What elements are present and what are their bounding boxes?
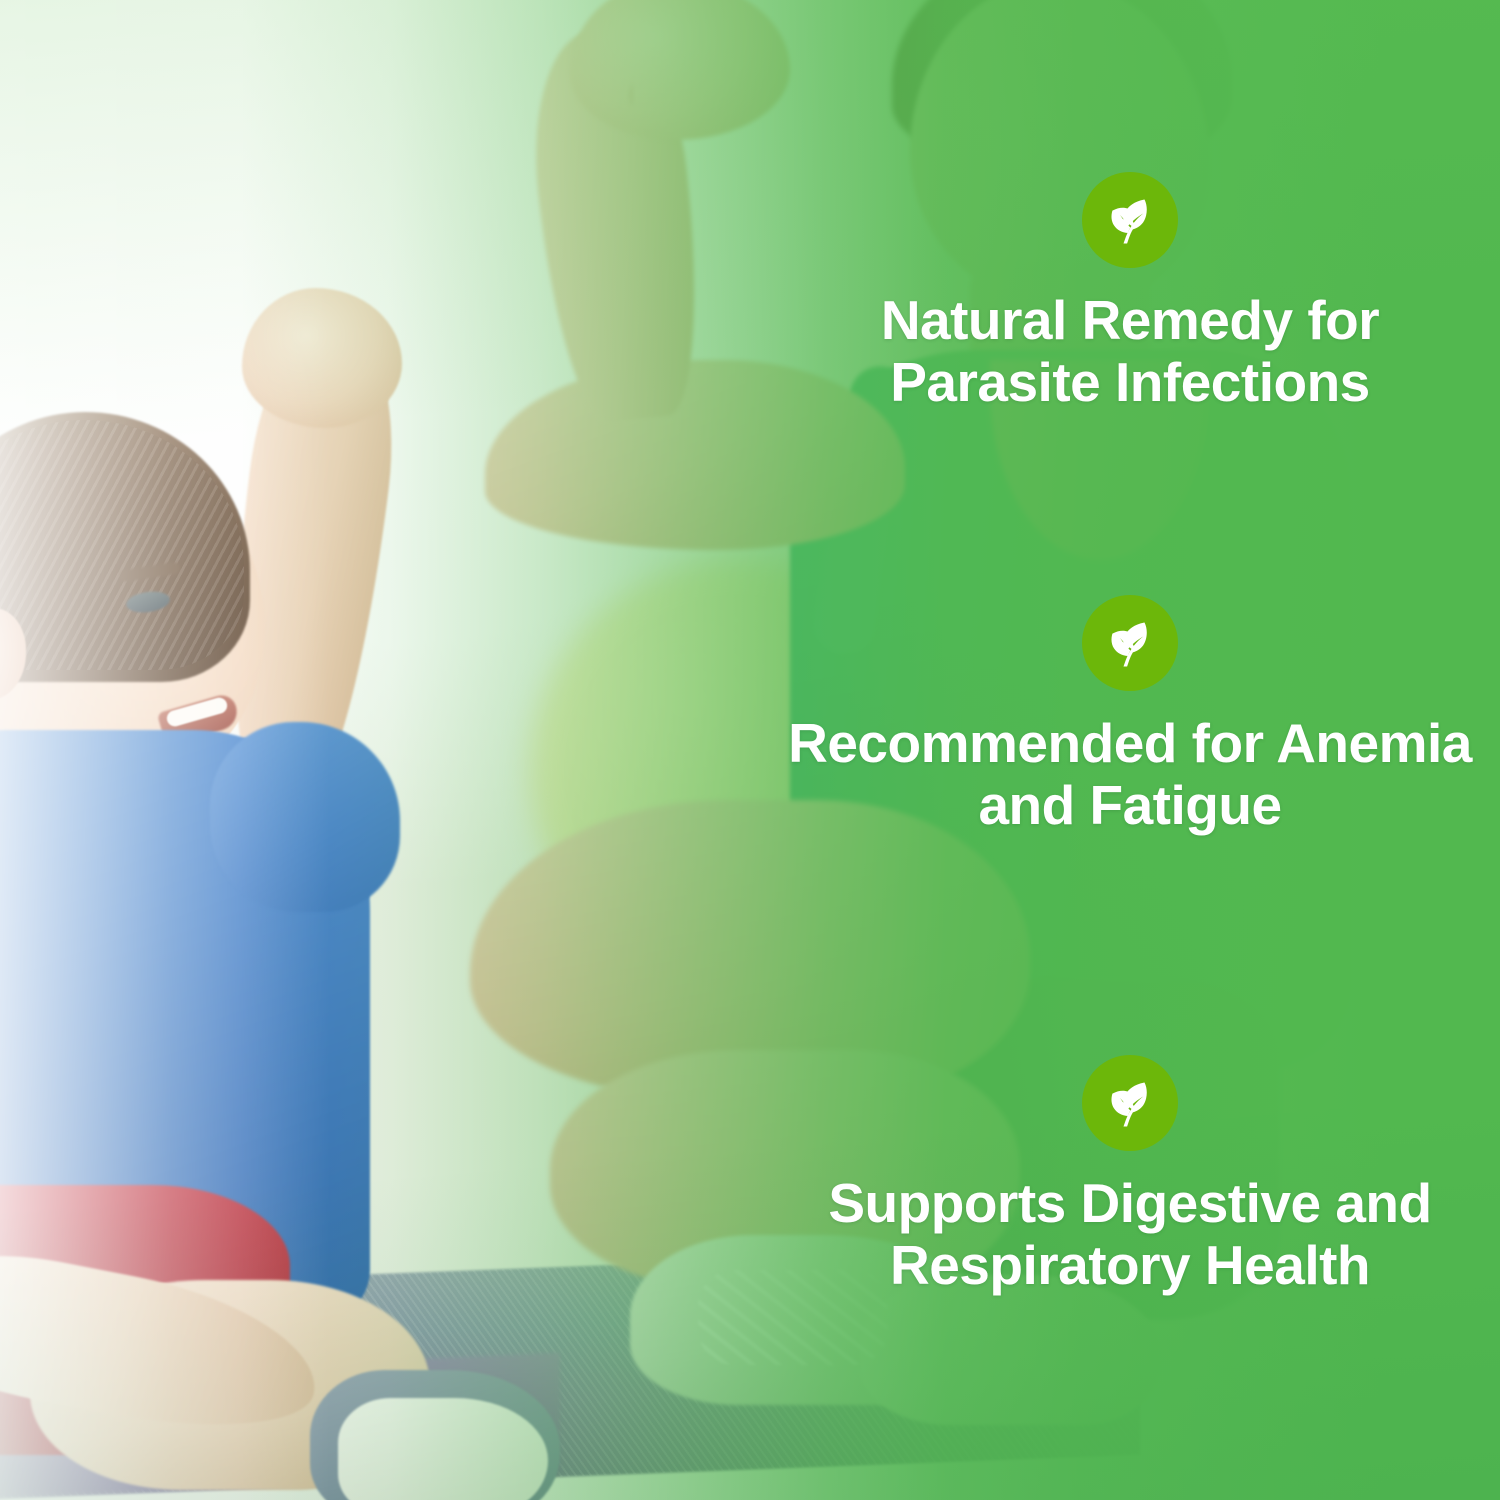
feature-line-2a: Recommended for Anemia: [788, 712, 1472, 774]
leaf-icon: [1082, 595, 1178, 691]
feature-item-2: Recommended for Anemia and Fatigue: [760, 595, 1500, 836]
feature-text-2: Recommended for Anemia and Fatigue: [788, 713, 1472, 836]
feature-item-1: Natural Remedy for Parasite Infections: [760, 172, 1500, 413]
feature-list: Natural Remedy for Parasite Infections R…: [760, 0, 1500, 1500]
feature-item-3: Supports Digestive and Respiratory Healt…: [760, 1055, 1500, 1296]
feature-text-3: Supports Digestive and Respiratory Healt…: [828, 1173, 1431, 1296]
feature-line-3b: Respiratory Health: [890, 1234, 1370, 1296]
feature-line-3a: Supports Digestive and: [828, 1172, 1431, 1234]
leaf-icon: [1082, 172, 1178, 268]
feature-line-1a: Natural Remedy for: [881, 289, 1379, 351]
feature-line-1b: Parasite Infections: [890, 351, 1370, 413]
product-benefits-banner: Natural Remedy for Parasite Infections R…: [0, 0, 1500, 1500]
feature-text-1: Natural Remedy for Parasite Infections: [881, 290, 1379, 413]
leaf-icon: [1082, 1055, 1178, 1151]
feature-line-2b: and Fatigue: [978, 774, 1281, 836]
